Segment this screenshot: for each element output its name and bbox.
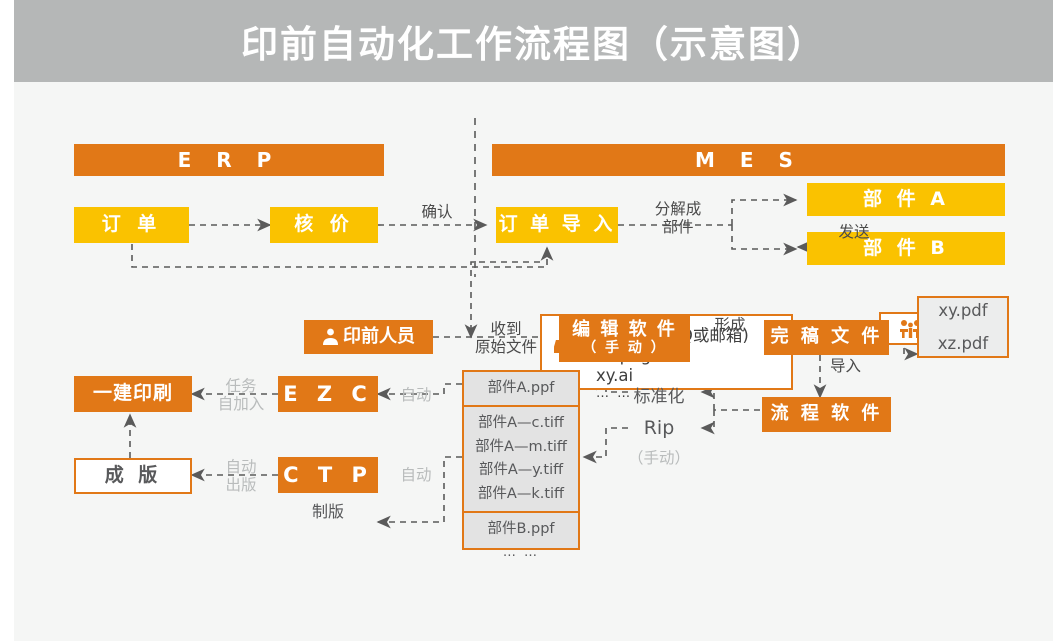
auto-label-ctp: 自动: [386, 465, 446, 486]
auto-publish-label: 自动 出版: [204, 458, 278, 495]
file-line: 部件A—c.tiff: [464, 412, 578, 435]
auto-publish-line1: 自动: [225, 458, 256, 476]
diagram-canvas: E R P 订 单 核 价 确认 M E S 订 单 导 入 分解成 部件 部 …: [14, 82, 1053, 641]
pdf-files-box[interactable]: xy.pdf xz.pdf: [917, 296, 1009, 358]
task-auto-line2: 自加入: [218, 395, 265, 413]
file-line: … …: [464, 542, 578, 563]
erp-header: E R P: [74, 144, 384, 176]
person-icon: [322, 328, 339, 346]
edit-software-box[interactable]: 编 辑 软 件 （ 手 动 ）: [559, 314, 690, 362]
file-line: 部件B.ppf: [464, 518, 578, 541]
send-label: 发送: [819, 222, 889, 243]
split-label-line2: 部件: [662, 218, 693, 236]
receive-label-line2: 原始文件: [475, 338, 537, 356]
prepress-staff-box[interactable]: 印前人员: [304, 320, 433, 354]
edit-software-line2: （ 手 动 ）: [582, 340, 667, 357]
split-label-line1: 分解成: [655, 200, 702, 218]
prepress-staff-label: 印前人员: [343, 327, 415, 348]
receive-label-line1: 收到: [490, 320, 521, 338]
form-label: 形成: [700, 315, 760, 336]
file-line: 部件A.ppf: [464, 377, 578, 400]
task-auto-line1: 任务: [225, 377, 256, 395]
file-line: 部件A—k.tiff: [464, 483, 578, 506]
ctp-caption: 制版: [278, 498, 378, 522]
confirm-label: 确认: [407, 202, 467, 223]
task-auto-label: 任务 自加入: [204, 377, 278, 414]
output-file-panel[interactable]: 部件A.ppf 部件A—c.tiff 部件A—m.tiff 部件A—y.tiff…: [462, 370, 580, 550]
edit-software-line1: 编 辑 软 件: [572, 319, 677, 340]
diagram-root: 印前自动化工作流程图（示意图）: [0, 0, 1053, 641]
title-bar: 印前自动化工作流程图（示意图）: [14, 0, 1053, 82]
standardize-label: 标准化: [624, 382, 694, 407]
rip-label: Rip: [624, 417, 694, 439]
split-label: 分解成 部件: [642, 200, 714, 237]
file-line: 部件A—m.tiff: [464, 436, 578, 459]
erp-order-box[interactable]: 订 单: [74, 207, 189, 243]
plate-box[interactable]: 成 版: [74, 458, 192, 494]
mes-header: M E S: [492, 144, 1005, 176]
part-a-box[interactable]: 部 件 A: [807, 183, 1005, 216]
auto-publish-line2: 出版: [225, 476, 256, 494]
rip-manual-label: （手动）: [624, 448, 694, 469]
import-label: 导入: [830, 356, 890, 377]
mes-order-import-box[interactable]: 订 单 导 入: [496, 207, 618, 243]
pdf-file-line: xy.pdf: [938, 294, 987, 327]
file-line: 部件A—y.tiff: [464, 459, 578, 482]
file-group: 部件A—c.tiff 部件A—m.tiff 部件A—y.tiff 部件A—k.t…: [464, 405, 578, 511]
ezc-box[interactable]: E Z C: [278, 376, 378, 412]
receive-label: 收到 原始文件: [451, 320, 561, 357]
workflow-software-box[interactable]: 流 程 软 件: [762, 397, 891, 432]
ctp-box[interactable]: C T P: [278, 457, 378, 493]
auto-label-ezc: 自动: [386, 385, 446, 406]
pdf-file-line: xz.pdf: [938, 327, 988, 360]
file-group: 部件A.ppf: [464, 372, 578, 405]
print-box[interactable]: 一建印刷: [74, 376, 192, 412]
file-group: 部件B.ppf … …: [464, 511, 578, 568]
final-files-box[interactable]: 完 稿 文 件: [764, 320, 889, 355]
page-title: 印前自动化工作流程图（示意图）: [14, 0, 1053, 82]
erp-pricing-box[interactable]: 核 价: [270, 207, 378, 243]
